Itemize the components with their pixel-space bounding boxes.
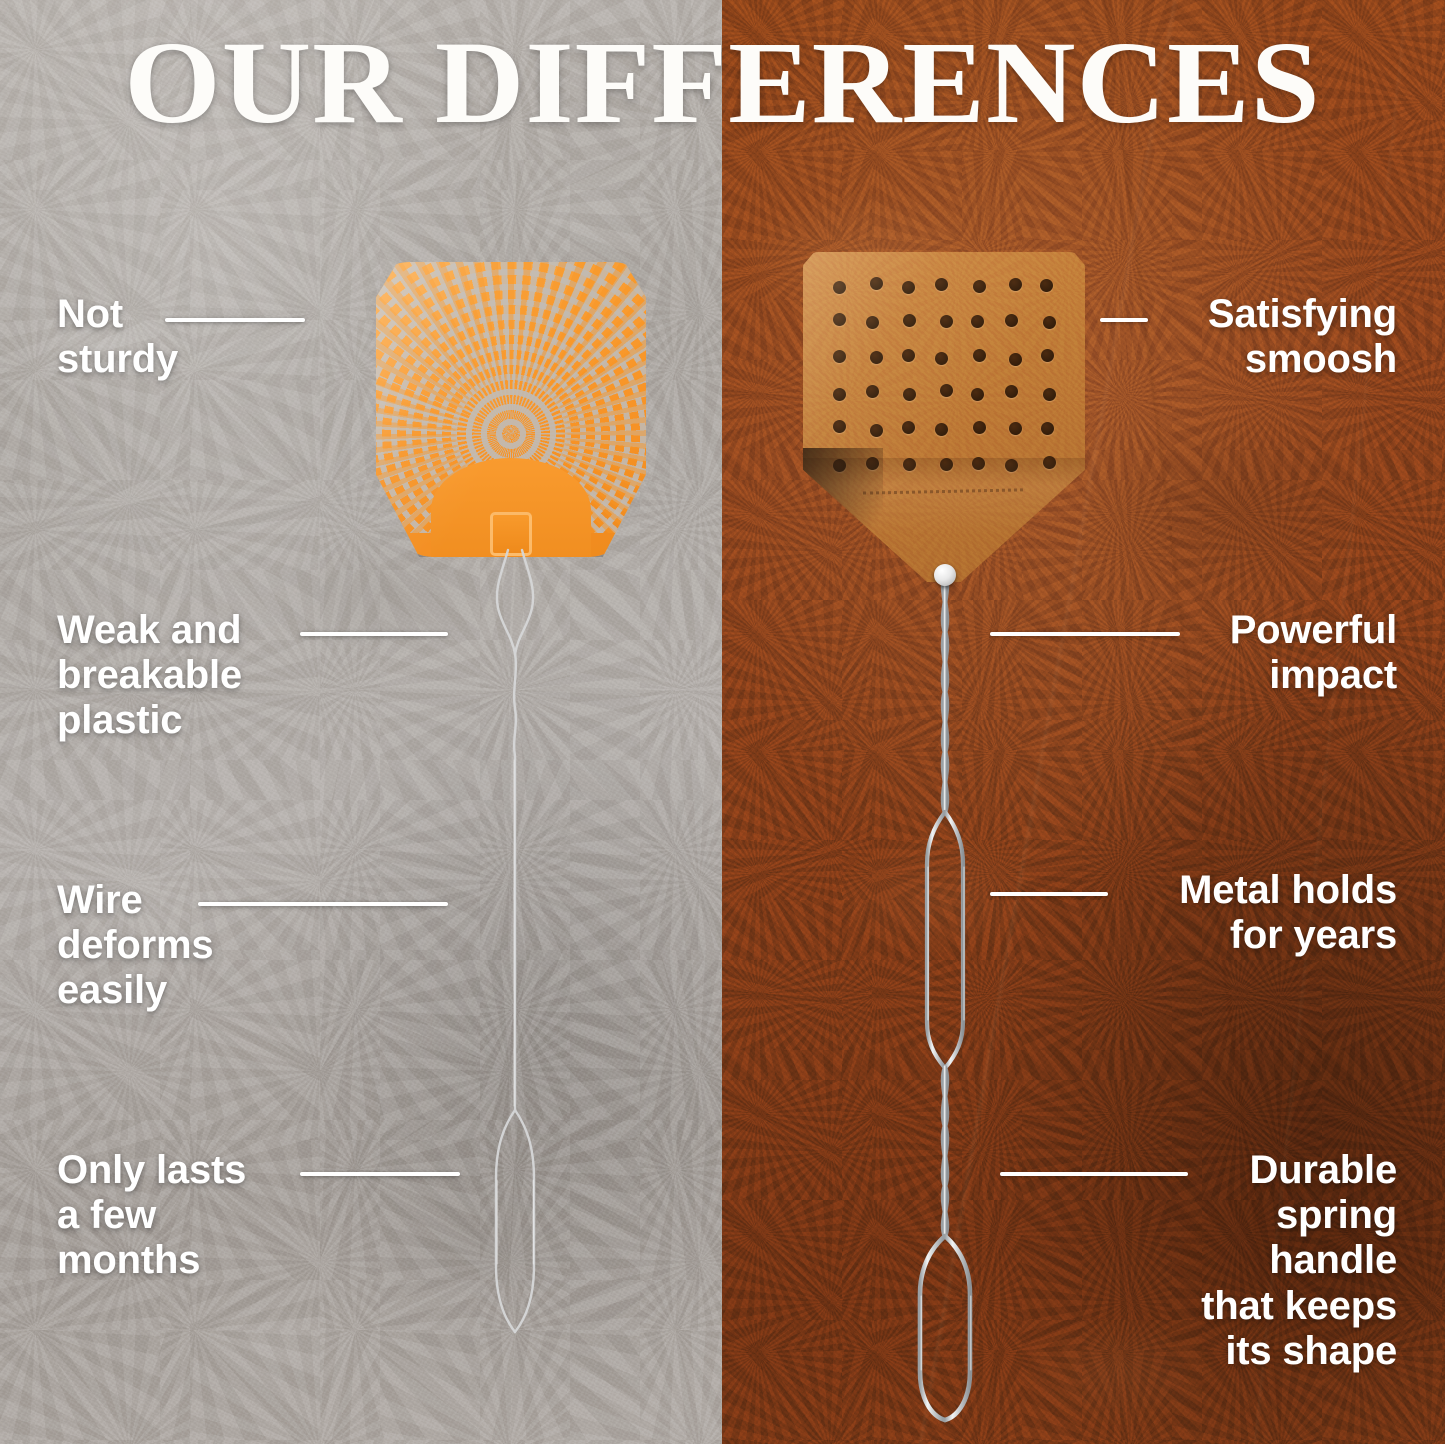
callout-right-4: Durable spring handle that keeps its sha…	[1201, 1148, 1397, 1374]
callout-left-4: Only lasts a few months	[57, 1148, 246, 1284]
leather-hole	[833, 281, 846, 294]
leather-hole	[973, 349, 986, 362]
leather-hole	[1043, 316, 1056, 329]
leather-hole	[1043, 388, 1056, 401]
leader-line-left-1	[165, 318, 305, 322]
leather-hole	[833, 388, 846, 401]
product-comparison-infographic: OUR DIFFERENCES	[0, 0, 1445, 1444]
leader-line-right-4	[1000, 1172, 1188, 1176]
leather-fly-swatter	[795, 252, 1095, 1412]
leather-hole	[866, 316, 879, 329]
callout-right-2: Powerful impact	[1230, 608, 1397, 698]
leather-hole	[903, 458, 916, 471]
plastic-swatter-head	[376, 262, 646, 557]
leather-hole	[973, 421, 986, 434]
leather-metal-rivet	[934, 564, 956, 586]
leader-line-right-2	[990, 632, 1180, 636]
leather-hole	[1005, 385, 1018, 398]
plastic-swatter-wire-handle	[478, 550, 552, 1340]
page-title: OUR DIFFERENCES	[0, 22, 1445, 145]
leather-swatter-head	[803, 252, 1085, 582]
leather-hole	[1009, 353, 1022, 366]
callout-left-3: Wire deforms easily	[57, 878, 213, 1014]
leather-hole	[870, 277, 883, 290]
leather-hole	[903, 388, 916, 401]
leather-hole	[1005, 459, 1018, 472]
leather-hole	[902, 281, 915, 294]
leather-hole	[870, 351, 883, 364]
leather-hole	[866, 457, 879, 470]
leather-hole	[1043, 456, 1056, 469]
leather-hole	[1041, 349, 1054, 362]
callout-right-1: Satisfying smoosh	[1208, 292, 1397, 382]
leather-hole	[1005, 314, 1018, 327]
callout-left-2: Weak and breakable plastic	[57, 608, 242, 744]
leather-hole	[1009, 278, 1022, 291]
leather-hole	[971, 388, 984, 401]
leather-hole	[940, 315, 953, 328]
leather-punched-hole-grid	[833, 279, 1055, 471]
leather-hole	[866, 385, 879, 398]
leather-hole	[833, 313, 846, 326]
leather-hole	[1041, 422, 1054, 435]
leader-line-right-1	[1100, 318, 1148, 322]
callout-right-3: Metal holds for years	[1179, 868, 1397, 958]
leader-line-left-4	[300, 1172, 460, 1176]
leather-hole	[1009, 422, 1022, 435]
leather-hole	[903, 314, 916, 327]
leather-hole	[973, 280, 986, 293]
callout-left-1: Not sturdy	[57, 292, 178, 382]
leather-hole	[833, 350, 846, 363]
leather-hole	[971, 315, 984, 328]
leather-hole	[972, 457, 985, 470]
leather-hole	[1040, 279, 1053, 292]
leader-line-right-3	[990, 892, 1108, 896]
leader-line-left-3	[198, 902, 448, 906]
leather-hole	[902, 421, 915, 434]
leather-hole	[935, 423, 948, 436]
leather-hole	[940, 384, 953, 397]
leather-hole	[833, 459, 846, 472]
leather-hole	[870, 424, 883, 437]
leather-swatter-spring-wire-handle	[902, 572, 988, 1422]
leather-hole	[935, 352, 948, 365]
leather-hole	[935, 278, 948, 291]
leather-hole	[833, 420, 846, 433]
leather-hole	[940, 458, 953, 471]
leather-hole	[902, 349, 915, 362]
leader-line-left-2	[300, 632, 448, 636]
